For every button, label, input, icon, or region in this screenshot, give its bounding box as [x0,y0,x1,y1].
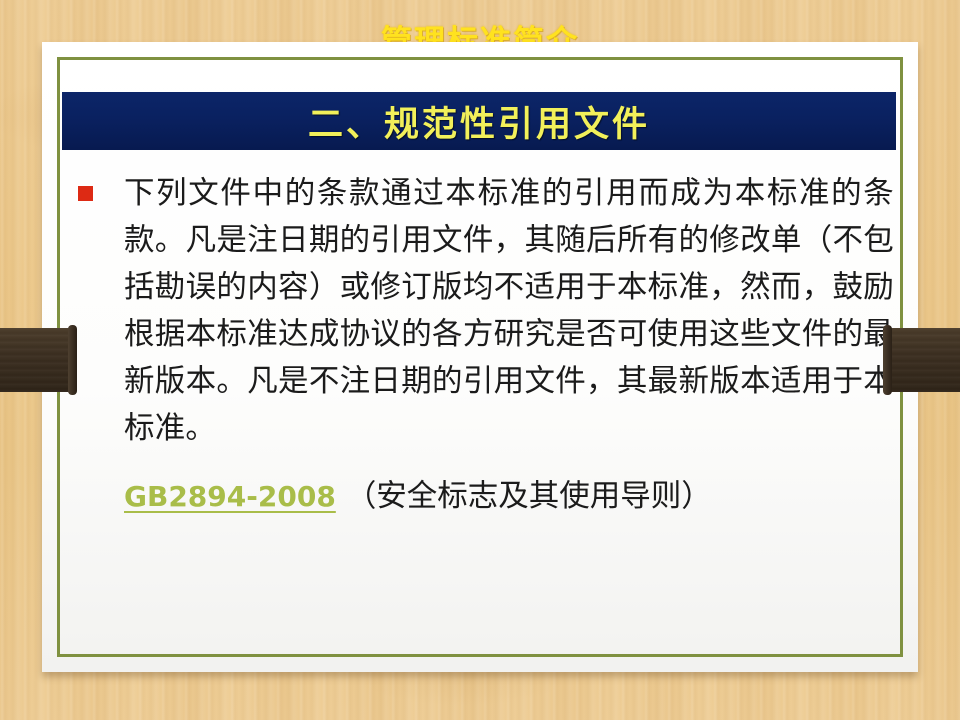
bullet-paragraph-row: 下列文件中的条款通过本标准的引用而成为本标准的条款。凡是注日期的引用文件，其随后… [78,170,894,452]
crossbar-cap-right [883,325,892,395]
section-title-bar: 二、规范性引用文件 [62,92,896,150]
body-paragraph: 下列文件中的条款通过本标准的引用而成为本标准的条款。凡是注日期的引用文件，其随后… [78,170,894,452]
standard-reference-title: （安全标志及其使用导则） [346,479,712,513]
square-bullet-icon [78,186,93,201]
crossbar-cap-left [68,325,77,395]
slide-body: 下列文件中的条款通过本标准的引用而成为本标准的条款。凡是注日期的引用文件，其随后… [78,170,894,519]
decorative-crossbar-right [888,328,960,392]
decorative-crossbar-left [0,328,72,392]
slide-card: 二、规范性引用文件 下列文件中的条款通过本标准的引用而成为本标准的条款。凡是注日… [42,42,918,672]
section-title-text: 二、规范性引用文件 [308,96,650,147]
standard-reference-link[interactable]: GB2894-2008 [124,480,336,513]
reference-row: GB2894-2008（安全标志及其使用导则） [78,474,894,519]
